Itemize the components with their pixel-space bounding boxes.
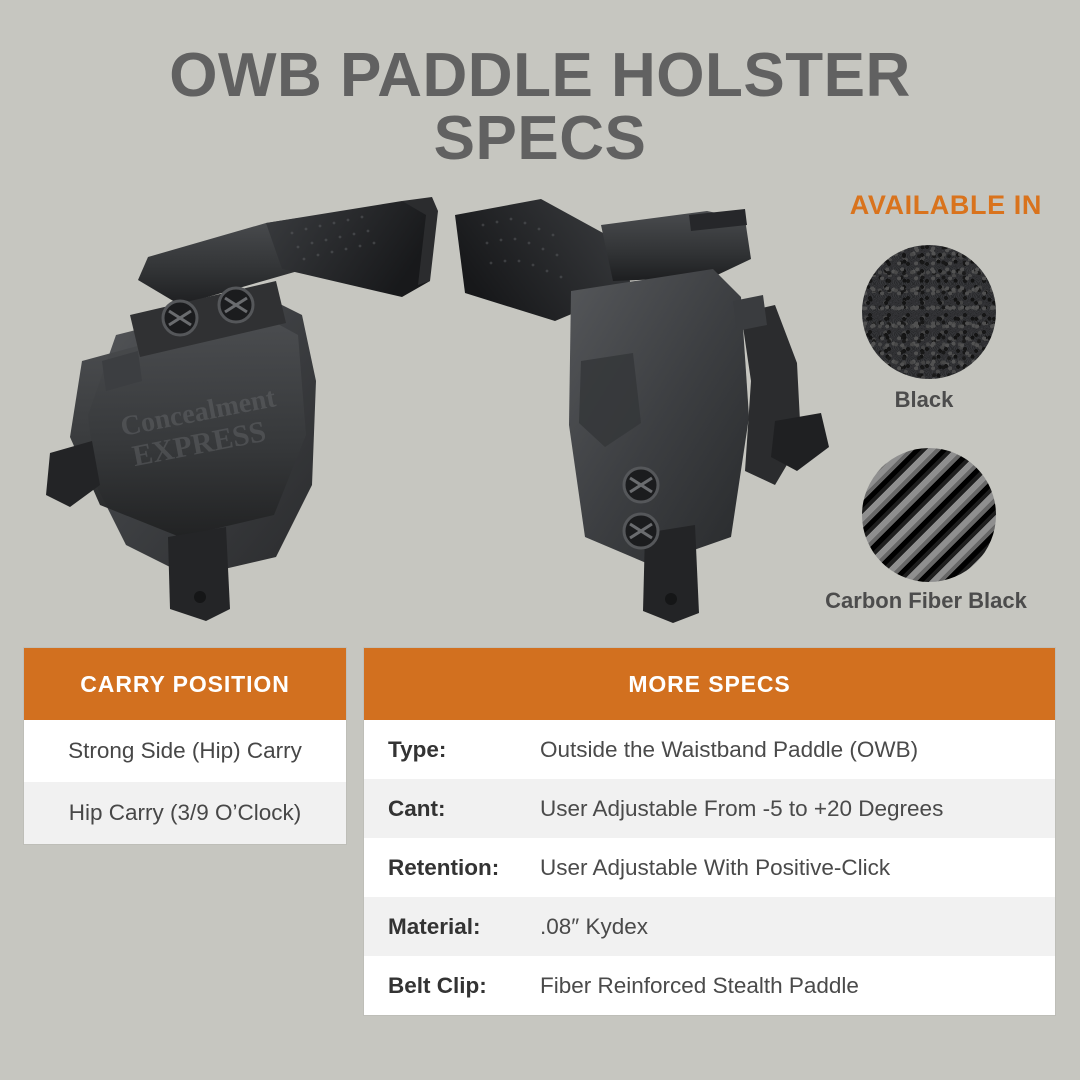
spec-value-material: .08″ Kydex: [540, 914, 648, 940]
spec-value-type: Outside the Waistband Paddle (OWB): [540, 737, 918, 763]
spec-label-cant: Cant:: [364, 796, 446, 822]
table-row: Cant: User Adjustable From -5 to +20 Deg…: [364, 779, 1055, 838]
spec-value-cant: User Adjustable From -5 to +20 Degrees: [540, 796, 943, 822]
swatch-label-black: Black: [790, 387, 1058, 413]
page-title: OWB PADDLE HOLSTER SPECS: [0, 44, 1080, 170]
available-colors-panel: AVAILABLE IN Black Carbon Fiber Black: [790, 190, 1058, 630]
channel-port: [665, 593, 677, 605]
more-specs-table: MORE SPECS Type: Outside the Waistband P…: [364, 648, 1055, 1015]
swatch-black[interactable]: [862, 245, 996, 379]
carry-position-header: CARRY POSITION: [24, 648, 346, 720]
carry-position-table: CARRY POSITION Strong Side (Hip) Carry H…: [24, 648, 346, 844]
spec-value-retention: User Adjustable With Positive-Click: [540, 855, 890, 881]
spec-label-material: Material:: [364, 914, 481, 940]
black-texture: [862, 245, 996, 379]
product-image-area: Concealment EXPRESS: [20, 185, 810, 625]
more-specs-header: MORE SPECS: [364, 648, 1055, 720]
spec-value-belt-clip: Fiber Reinforced Stealth Paddle: [540, 973, 859, 999]
table-row: Material: .08″ Kydex: [364, 897, 1055, 956]
spec-label-retention: Retention:: [364, 855, 499, 881]
table-row: Strong Side (Hip) Carry: [24, 720, 346, 782]
paddle-hook: [46, 441, 100, 507]
table-row: Belt Clip: Fiber Reinforced Stealth Padd…: [364, 956, 1055, 1015]
holster-front-view: Concealment EXPRESS: [30, 185, 450, 625]
swatch-label-carbon-fiber-black: Carbon Fiber Black: [786, 588, 1066, 614]
carry-position-value: Strong Side (Hip) Carry: [68, 738, 302, 764]
table-row: Retention: User Adjustable With Positive…: [364, 838, 1055, 897]
pistol-grip: [266, 201, 430, 297]
table-row: Type: Outside the Waistband Paddle (OWB): [364, 720, 1055, 779]
carbon-fiber-texture: [862, 448, 996, 582]
light-channel: [168, 527, 230, 621]
swatch-carbon-fiber-black[interactable]: [862, 448, 996, 582]
carry-position-value: Hip Carry (3/9 O’Clock): [69, 800, 302, 826]
spec-label-type: Type:: [364, 737, 446, 763]
spec-label-belt-clip: Belt Clip:: [364, 973, 487, 999]
available-in-heading: AVAILABLE IN: [850, 190, 1042, 221]
holster-back-view: [445, 185, 845, 625]
table-row: Hip Carry (3/9 O’Clock): [24, 782, 346, 844]
clip-stub: [733, 295, 767, 331]
channel-port: [194, 591, 206, 603]
